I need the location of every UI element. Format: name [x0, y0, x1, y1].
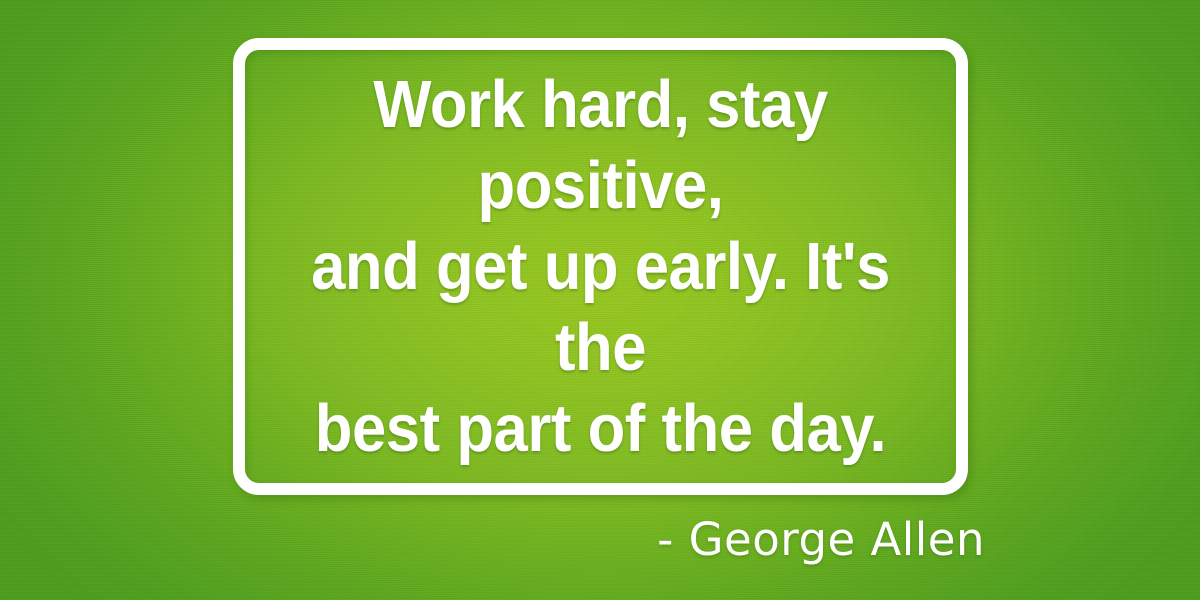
quote-frame-border: Work hard, stay positive, and get up ear… — [233, 38, 968, 495]
quote-text: Work hard, stay positive, and get up ear… — [273, 64, 927, 469]
quote-attribution: - George Allen — [0, 512, 985, 568]
quote-card: Work hard, stay positive, and get up ear… — [0, 0, 1200, 600]
